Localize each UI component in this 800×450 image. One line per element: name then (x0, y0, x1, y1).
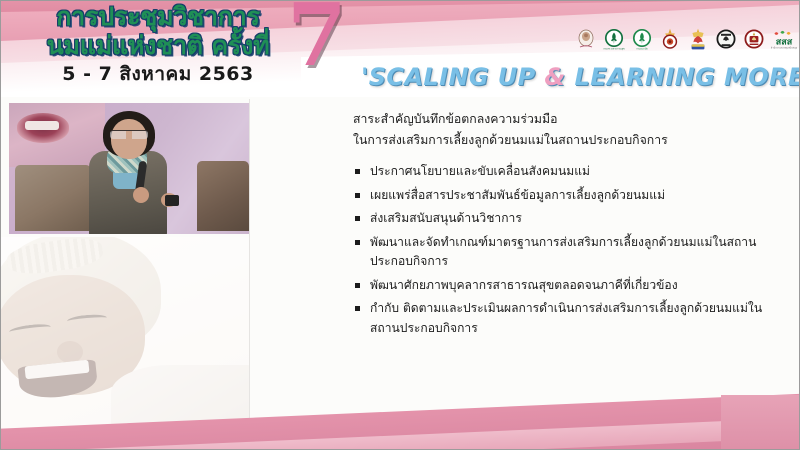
footer-right-block (721, 395, 800, 449)
list-item: ประกาศนโยบายและขับเคลื่อนสังคมนมแม่ (353, 162, 783, 182)
speaker-hand-left (133, 187, 149, 203)
conference-date: 5 - 7 สิงหาคม 2563 (13, 64, 303, 85)
tagline-suffix: LEARNING MORE' (566, 63, 800, 91)
conference-title-line-2: นมแม่แห่งชาติ ครั้งที่ (13, 32, 303, 60)
speaker-glasses (110, 130, 148, 139)
content-divider (249, 99, 250, 429)
presentation-slide: การประชุมวิชาการ นมแม่แห่งชาติ ครั้งที่ … (0, 0, 800, 450)
mou-bullet-list: ประกาศนโยบายและขับเคลื่อนสังคมนมแม่ เผยแ… (353, 162, 783, 338)
speaker-photo-poster-teeth (25, 121, 59, 130)
speaker-on-stage-photo (9, 103, 249, 234)
department-of-health-emblem-icon: กรมอนามัย (631, 28, 653, 52)
list-item: พัฒนาและจัดทำเกณฑ์มาตรฐานการส่งเสริมการเ… (353, 233, 783, 272)
list-item: เผยแพร่สื่อสารประชาสัมพันธ์ข้อมูลการเลี้… (353, 186, 783, 206)
royal-patronage-emblem-icon (575, 28, 597, 52)
lead-line-2: ในการส่งเสริมการเลี้ยงลูกด้วยนมแม่ในสถาน… (353, 130, 783, 151)
speaker-chair-right (197, 161, 249, 231)
svg-text:กระทรวงสาธารณสุข: กระทรวงสาธารณสุข (603, 46, 625, 51)
thaihealth-sss-logo-icon: สสส สำนักงานกองทุนสนับสนุน (771, 28, 793, 52)
list-item: กำกับ ติดตามและประเมินผลการดำเนินการส่งเ… (353, 299, 783, 338)
ministry-of-public-health-emblem-icon: กระทรวงสาธารณสุข (603, 28, 625, 52)
royal-crown-emblem-icon (659, 28, 681, 52)
edition-number: 7 (287, 1, 347, 79)
photo-column (1, 97, 249, 429)
garuda-emblem-icon (687, 28, 709, 52)
conference-title-block: การประชุมวิชาการ นมแม่แห่งชาติ ครั้งที่ … (13, 3, 303, 85)
slide-header-banner: การประชุมวิชาการ นมแม่แห่งชาติ ครั้งที่ … (1, 1, 800, 97)
slide-footer-banner (1, 387, 800, 449)
speaker-face (111, 119, 147, 159)
tagline-ampersand: & (544, 63, 565, 91)
conference-title-line-1: การประชุมวิชาการ (13, 3, 303, 31)
svg-text:กรมอนามัย: กรมอนามัย (636, 47, 648, 50)
national-shield-emblem-icon (743, 28, 765, 52)
lead-line-1: สาระสำคัญบันทึกข้อตกลงความร่วมมือ (353, 109, 783, 130)
list-item: ส่งเสริมสนับสนุนด้านวิชาการ (353, 209, 783, 229)
thai-red-cross-emblem-icon (715, 28, 737, 52)
content-text-pane: สาระสำคัญบันทึกข้อตกลงความร่วมมือ ในการส… (353, 109, 783, 342)
tagline-prefix: 'SCALING UP (361, 63, 544, 91)
speaker-chair-left (15, 165, 91, 231)
list-item: พัฒนาศักยภาพบุคลากรสาธารณสุขตลอดจนภาคีที… (353, 276, 783, 296)
svg-text:สำนักงานกองทุนสนับสนุน: สำนักงานกองทุนสนับสนุน (771, 46, 797, 51)
conference-tagline: 'SCALING UP & LEARNING MORE' (361, 63, 793, 91)
speaker-clicker-device (165, 195, 179, 206)
sponsor-logo-row: กระทรวงสาธารณสุข กรมอนามัย (575, 28, 793, 52)
